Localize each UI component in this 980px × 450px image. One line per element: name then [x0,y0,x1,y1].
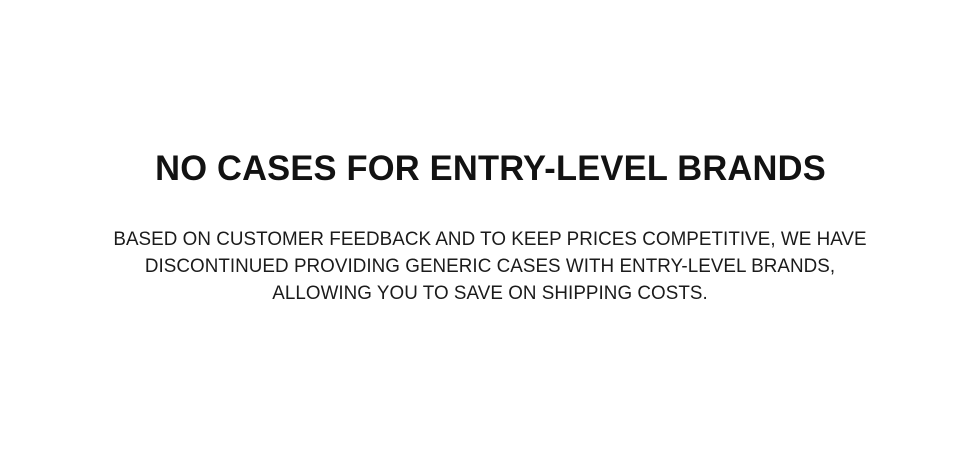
promo-notice-section: NO CASES FOR ENTRY-LEVEL BRANDS BASED ON… [0,0,980,450]
page-title: NO CASES FOR ENTRY-LEVEL BRANDS [155,152,826,186]
notice-description: BASED ON CUSTOMER FEEDBACK AND TO KEEP P… [104,186,876,307]
